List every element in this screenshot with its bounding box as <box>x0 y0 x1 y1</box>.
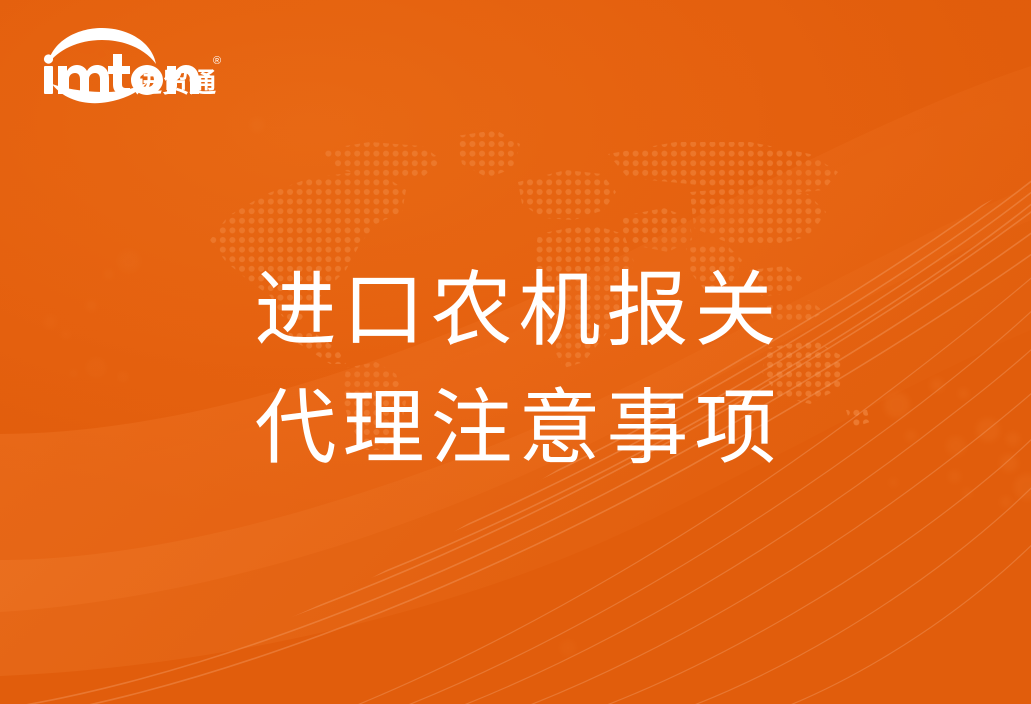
brand-chinese-name: 进贸通 <box>135 68 216 98</box>
brand-logo[interactable]: 进贸通 ® <box>42 26 232 104</box>
dotted-world-map <box>170 120 870 450</box>
registered-trademark-icon: ® <box>213 55 221 67</box>
poster-canvas: 进贸通 ® 进口农机报关 代理注意事项 <box>0 0 1031 704</box>
